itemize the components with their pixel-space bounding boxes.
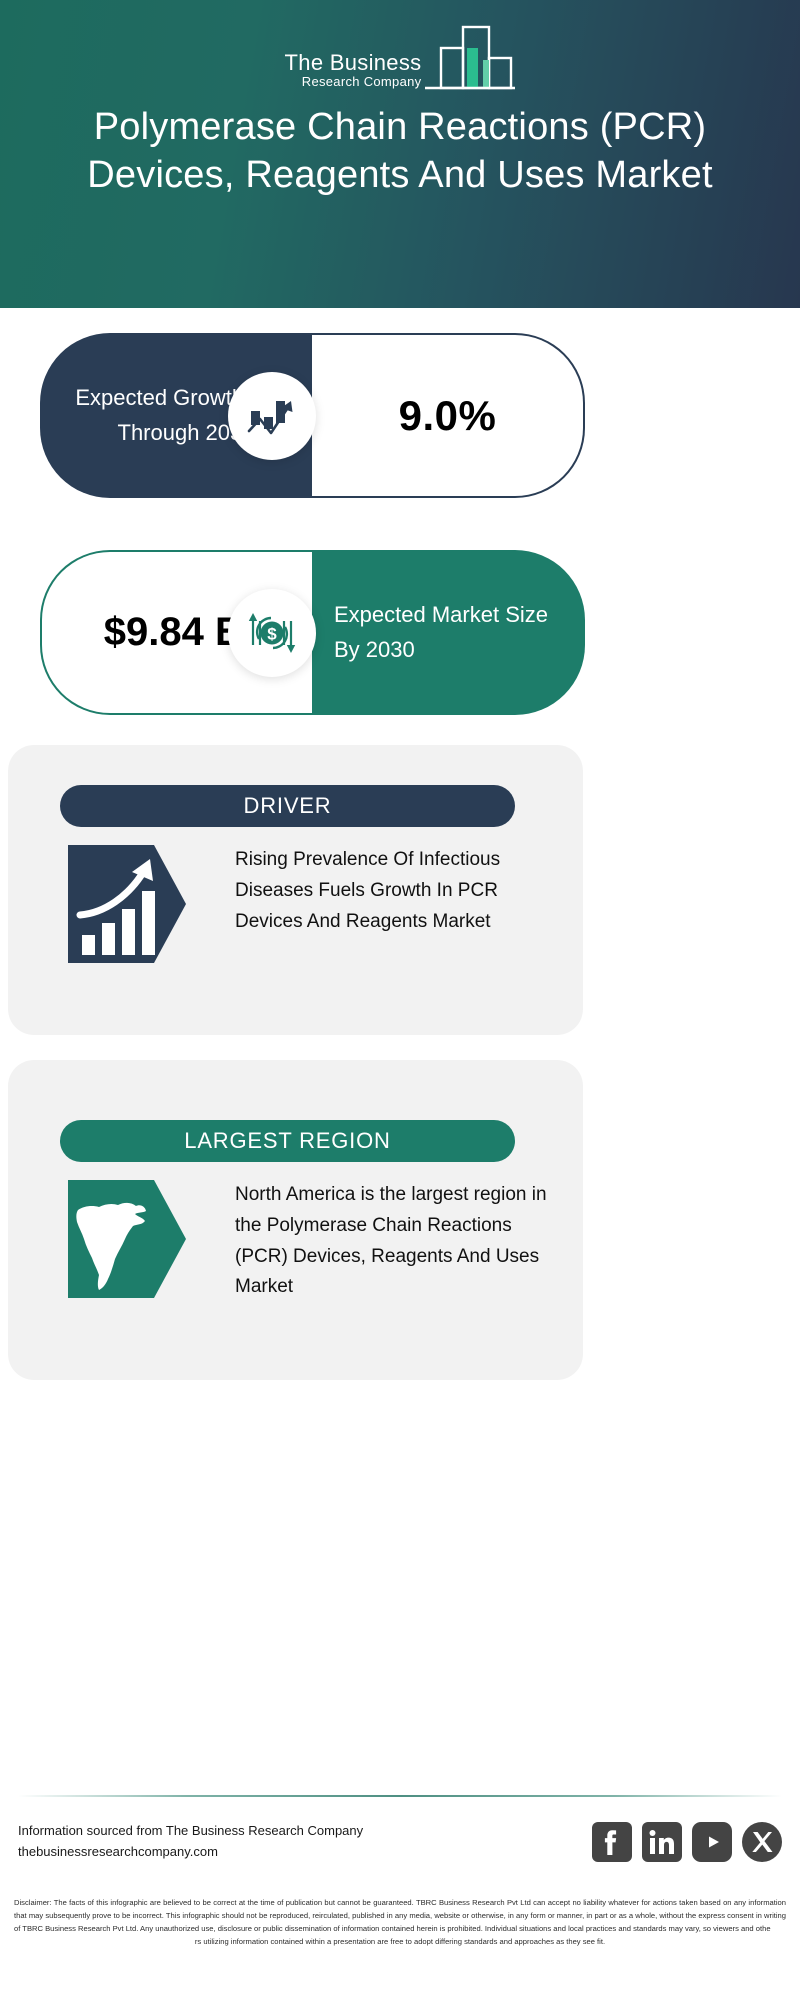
driver-pill-label: DRIVER bbox=[244, 793, 332, 819]
footer-source-url[interactable]: thebusinessresearchcompany.com bbox=[18, 1841, 438, 1862]
page-title: Polymerase Chain Reactions (PCR) Devices… bbox=[40, 104, 760, 200]
driver-pill: DRIVER bbox=[60, 785, 515, 827]
facebook-icon[interactable] bbox=[592, 1822, 632, 1862]
market-size-label: Expected Market Size By 2030 bbox=[312, 598, 585, 666]
logo-primary-text: The Business bbox=[285, 51, 422, 74]
svg-text:$: $ bbox=[267, 625, 277, 644]
bar-chart-growth-arrow-icon bbox=[245, 389, 299, 443]
disclaimer-text: Disclaimer: The facts of this infographi… bbox=[14, 1896, 786, 1948]
social-links bbox=[592, 1822, 782, 1862]
north-america-map-pentagon-icon bbox=[68, 1180, 186, 1298]
linkedin-icon[interactable] bbox=[642, 1822, 682, 1862]
largest-region-pill: LARGEST REGION bbox=[60, 1120, 515, 1162]
driver-body-text: Rising Prevalence Of Infectious Diseases… bbox=[235, 845, 565, 937]
growth-rate-value-block: 9.0% bbox=[312, 333, 585, 498]
company-logo: The Business Research Company bbox=[0, 24, 800, 94]
logo-bar-chart-icon bbox=[423, 24, 515, 92]
logo-text: The Business Research Company bbox=[285, 51, 422, 94]
logo-secondary-text: Research Company bbox=[302, 74, 422, 90]
largest-region-body-text: North America is the largest region in t… bbox=[235, 1180, 565, 1303]
header-banner: The Business Research Company Polymerase… bbox=[0, 0, 800, 308]
footer-source: Information sourced from The Business Re… bbox=[18, 1820, 438, 1863]
largest-region-pill-label: LARGEST REGION bbox=[184, 1128, 390, 1154]
disclaimer-main: Disclaimer: The facts of this infographi… bbox=[14, 1898, 786, 1933]
youtube-icon[interactable] bbox=[692, 1822, 732, 1862]
footer-divider bbox=[18, 1795, 782, 1797]
growth-chart-pentagon-icon bbox=[68, 845, 186, 963]
x-twitter-icon[interactable] bbox=[742, 1822, 782, 1862]
disclaimer-tail: rs utilizing information contained withi… bbox=[14, 1935, 786, 1948]
market-size-icon-badge: $ bbox=[228, 589, 316, 677]
market-size-label-block: Expected Market Size By 2030 bbox=[312, 550, 585, 715]
growth-rate-icon-badge bbox=[228, 372, 316, 460]
growth-rate-value: 9.0% bbox=[399, 392, 497, 440]
footer-source-line1: Information sourced from The Business Re… bbox=[18, 1820, 438, 1841]
dollar-circulation-icon: $ bbox=[244, 605, 300, 661]
